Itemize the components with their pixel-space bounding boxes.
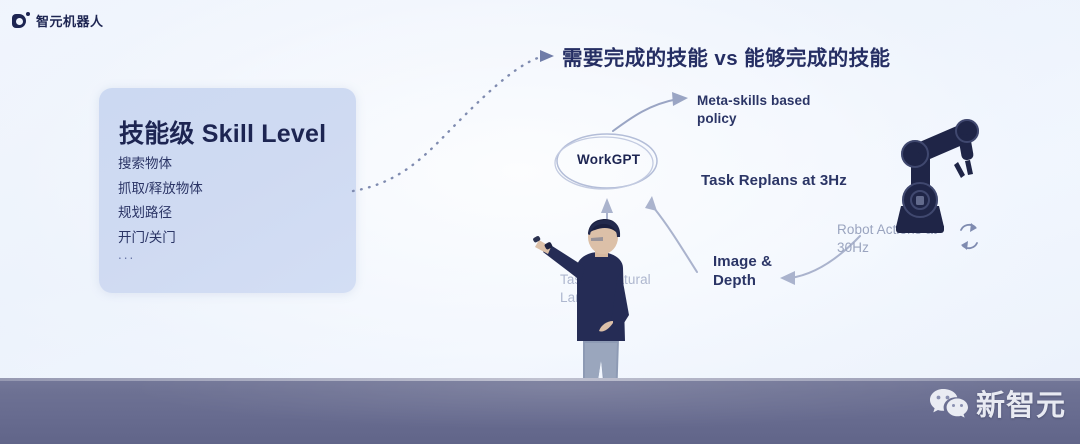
presentation-screenshot: 智元机器人 技能级 Skill Level 搜索物体 抓取/释放物体 规划路径 … bbox=[0, 0, 1080, 444]
wechat-icon bbox=[929, 388, 969, 418]
list-item: 规划路径 bbox=[118, 201, 348, 226]
skill-card-ellipsis: ... bbox=[118, 247, 135, 262]
watermark-text: 新智元 bbox=[976, 382, 1066, 424]
workgpt-label: WorkGPT bbox=[577, 152, 640, 167]
stage-floor-sheen bbox=[0, 381, 1080, 444]
label-image-depth: Image &Depth bbox=[713, 252, 772, 290]
list-item: 抓取/释放物体 bbox=[118, 177, 348, 202]
robot-arm-icon bbox=[882, 96, 998, 246]
label-meta-skills: Meta-skills basedpolicy bbox=[697, 92, 811, 127]
list-item: 搜索物体 bbox=[118, 152, 348, 177]
skill-card-list: 搜索物体 抓取/释放物体 规划路径 开门/关门 bbox=[118, 152, 348, 250]
list-item: 开门/关门 bbox=[118, 226, 348, 251]
dotted-pointer-arrow bbox=[353, 50, 554, 191]
agibot-d-logo-icon bbox=[12, 12, 29, 29]
arrow-to-meta-skills bbox=[613, 92, 688, 131]
channel-watermark: 新智元 bbox=[929, 382, 1066, 424]
slide-headline: 需要完成的技能 vs 能够完成的技能 bbox=[562, 41, 890, 71]
brand-logo: 智元机器人 bbox=[12, 11, 104, 30]
label-task-replans: Task Replans at 3Hz bbox=[701, 172, 847, 190]
brand-name: 智元机器人 bbox=[36, 11, 104, 30]
skill-card-title: 技能级 Skill Level bbox=[119, 114, 326, 150]
